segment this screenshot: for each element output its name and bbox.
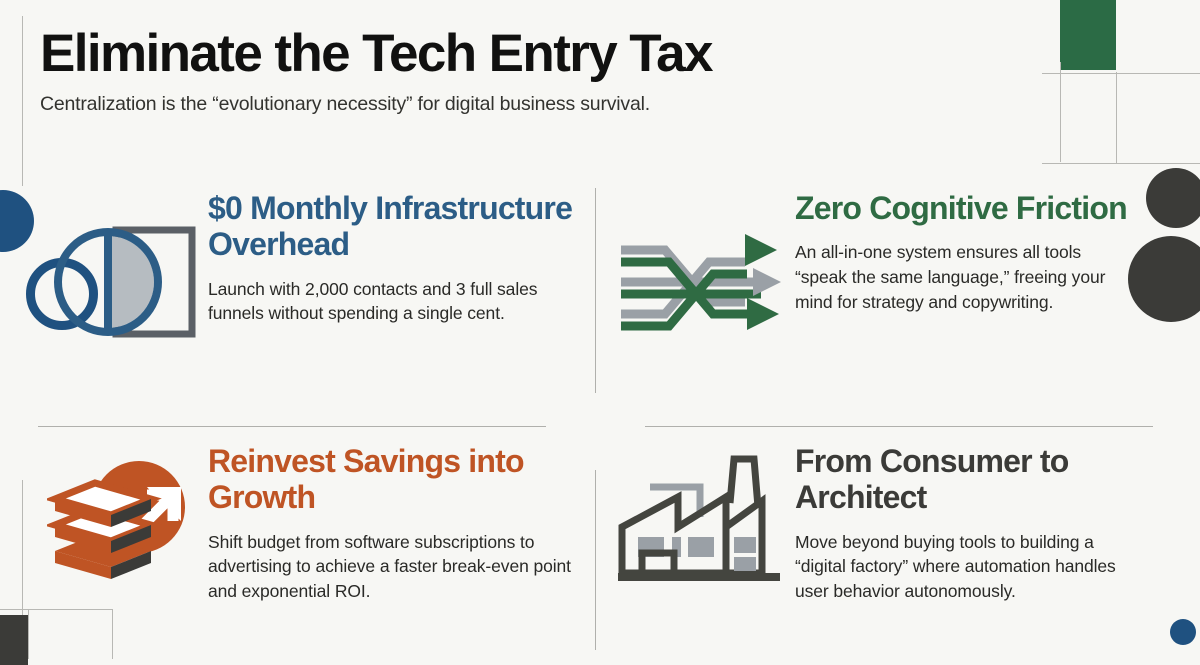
factory-icon <box>603 433 795 583</box>
slide-header: Eliminate the Tech Entry Tax Centralizat… <box>40 26 1020 116</box>
benefit-card-title: From Consumer to Architect <box>795 443 1136 516</box>
green-block-decoration <box>1060 0 1116 70</box>
page-title: Eliminate the Tech Entry Tax <box>40 26 1020 81</box>
benefit-card-architect: From Consumer to Architect Move beyond b… <box>595 425 1152 648</box>
shuffle-arrows-icon <box>603 186 795 348</box>
circle-half-filled-icon <box>38 186 208 348</box>
stacked-books-growth-arrow-icon <box>38 433 208 581</box>
benefit-card-body: $0 Monthly Infrastructure Overhead Launc… <box>208 186 579 326</box>
benefit-card-text: Shift budget from software subscriptions… <box>208 530 579 605</box>
dark-square-decoration <box>0 615 28 665</box>
grid-line-vertical <box>28 609 29 659</box>
benefit-card-body: Zero Cognitive Friction An all-in-one sy… <box>795 186 1136 315</box>
grid-line-horizontal <box>1042 163 1200 164</box>
header-accent-rule <box>22 16 23 186</box>
dark-circle-decoration <box>1146 168 1200 228</box>
footer-accent-rule <box>22 480 23 659</box>
page-subtitle: Centralization is the “evolutionary nece… <box>40 93 1020 116</box>
benefit-card-zero-cost: $0 Monthly Infrastructure Overhead Launc… <box>30 178 595 425</box>
benefit-card-reinvest: Reinvest Savings into Growth Shift budge… <box>30 425 595 648</box>
benefit-card-title: $0 Monthly Infrastructure Overhead <box>208 190 579 263</box>
blue-circle-decoration <box>0 190 34 252</box>
benefits-grid: $0 Monthly Infrastructure Overhead Launc… <box>30 178 1152 648</box>
benefit-card-text: An all-in-one system ensures all tools “… <box>795 240 1136 315</box>
grid-line-horizontal <box>1042 73 1200 74</box>
blue-dot-decoration <box>1170 619 1196 645</box>
grid-line-vertical <box>1060 62 1061 162</box>
benefit-card-title: Zero Cognitive Friction <box>795 190 1136 226</box>
benefit-card-text: Move beyond buying tools to building a “… <box>795 530 1136 605</box>
benefit-card-body: Reinvest Savings into Growth Shift budge… <box>208 433 579 604</box>
benefit-card-zero-friction: Zero Cognitive Friction An all-in-one sy… <box>595 178 1152 425</box>
benefit-card-body: From Consumer to Architect Move beyond b… <box>795 433 1136 604</box>
benefit-card-text: Launch with 2,000 contacts and 3 full sa… <box>208 277 579 327</box>
benefit-card-title: Reinvest Savings into Growth <box>208 443 579 516</box>
grid-line-vertical <box>1116 72 1117 164</box>
